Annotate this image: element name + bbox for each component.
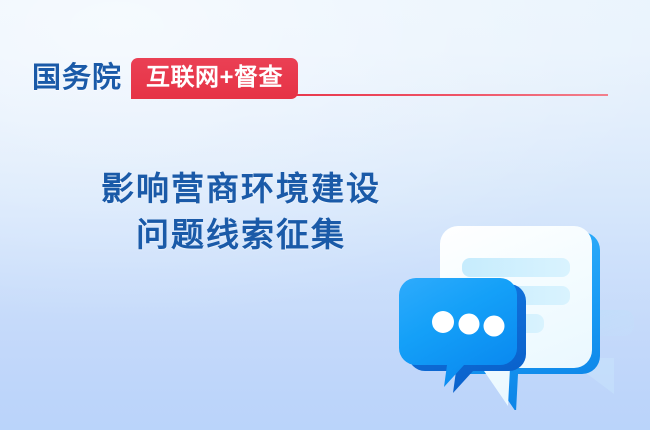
banner-header: 国务院 互联网+督查	[32, 56, 298, 100]
page-title: 影响营商环境建设 问题线索征集	[0, 166, 482, 258]
banner-root: 国务院 互联网+督查 影响营商环境建设 问题线索征集	[0, 0, 650, 430]
header-red-rule	[291, 94, 608, 96]
page-title-line-1: 影响营商环境建设	[0, 166, 482, 212]
page-title-line-2: 问题线索征集	[0, 212, 482, 258]
gov-council-label: 国务院	[32, 64, 122, 93]
internet-plus-supervision-badge: 互联网+督查	[131, 58, 298, 99]
